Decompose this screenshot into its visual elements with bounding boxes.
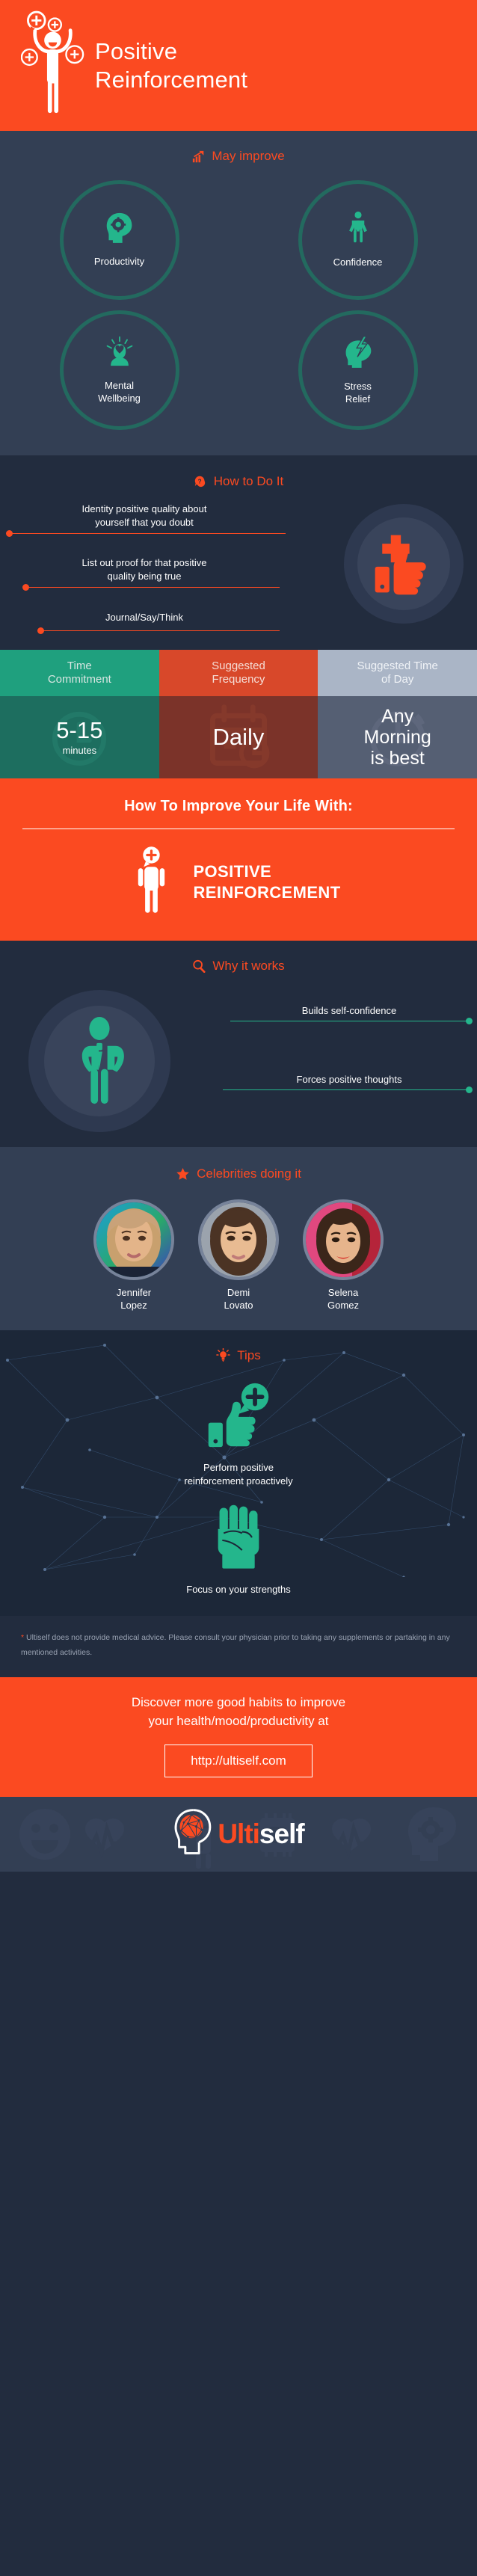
lightbulb-icon bbox=[216, 1348, 230, 1362]
table-cell-time-commitment: 5-15 minutes bbox=[0, 696, 159, 778]
person-with-heart-mind-icon bbox=[104, 336, 135, 371]
why-it-works-heading-text: Why it works bbox=[212, 959, 284, 974]
how-to-step-1: Identity positive quality about yourself… bbox=[6, 502, 283, 529]
may-improve-item-productivity: Productivity bbox=[60, 180, 179, 300]
banner-habit-name: POSITIVE REINFORCEMENT bbox=[193, 861, 340, 903]
why-it-works-item-1: Builds self-confidence bbox=[226, 1005, 473, 1016]
head-with-lightning-icon bbox=[342, 335, 374, 372]
celebrity-card: Selena Gomez bbox=[299, 1199, 387, 1312]
head-with-brain-network-icon bbox=[173, 1807, 212, 1860]
bar-chart-up-icon bbox=[192, 150, 205, 163]
magnifying-glass-icon bbox=[192, 959, 206, 973]
page-header: Positive Reinforcement bbox=[0, 0, 477, 131]
how-to-section: ? How to Do It Identity positive quality… bbox=[0, 455, 477, 650]
avatar bbox=[93, 1199, 174, 1280]
why-it-works-item-2: Forces positive thoughts bbox=[226, 1074, 473, 1085]
summary-table: TimeCommitment SuggestedFrequency Sugges… bbox=[0, 650, 477, 778]
infographic-page: Positive Reinforcement May improve bbox=[0, 0, 477, 1872]
celebrity-name: Selena Gomez bbox=[299, 1287, 387, 1312]
tips-section: Tips Perform positive reinforcement pr bbox=[0, 1330, 477, 1617]
table-header-suggested-frequency: SuggestedFrequency bbox=[159, 650, 318, 696]
how-to-step-2: List out proof for that positive quality… bbox=[6, 556, 283, 582]
tips-heading: Tips bbox=[0, 1348, 477, 1363]
may-improve-item-label: Productivity bbox=[94, 256, 144, 268]
brand-wordmark: Ultiself bbox=[218, 1819, 304, 1850]
table-cell-value: 5-15 bbox=[56, 719, 102, 743]
table-cell-subvalue: minutes bbox=[63, 745, 97, 756]
tip-item-2: Focus on your strengths bbox=[0, 1504, 477, 1596]
tip-text: Perform positive reinforcement proactive… bbox=[0, 1461, 477, 1488]
raised-fist-icon bbox=[214, 1564, 263, 1576]
how-to-heading-text: How to Do It bbox=[214, 474, 284, 489]
table-header-suggested-time-of-day: Suggested Timeof Day bbox=[318, 650, 477, 696]
may-improve-item-stress-relief: Stress Relief bbox=[298, 310, 418, 430]
footer-logo: Ultiself bbox=[173, 1807, 304, 1860]
title-banner: How To Improve Your Life With: POSITIVE … bbox=[0, 778, 477, 941]
confident-person-icon bbox=[28, 990, 170, 1132]
brand-self: self bbox=[259, 1819, 304, 1849]
avatar bbox=[303, 1199, 384, 1280]
why-connector-line bbox=[223, 1089, 470, 1090]
page-title: Positive Reinforcement bbox=[95, 37, 247, 94]
how-to-step-3: Journal/Say/Think bbox=[6, 611, 283, 624]
table-cell-value: Any Morning is best bbox=[364, 706, 431, 769]
star-icon bbox=[176, 1167, 190, 1181]
thumbs-up-plus-icon bbox=[204, 1442, 273, 1454]
table-cell-value: Daily bbox=[213, 725, 265, 750]
table-cell-suggested-frequency: Daily bbox=[159, 696, 318, 778]
person-with-plus-bubble-icon bbox=[136, 846, 176, 918]
person-celebrating-with-plus-bubbles-icon bbox=[21, 10, 84, 120]
may-improve-heading: May improve bbox=[0, 149, 477, 164]
celebrity-card: Demi Lovato bbox=[194, 1199, 283, 1312]
celebrities-section: Celebrities doing it bbox=[0, 1147, 477, 1330]
table-header-time-commitment: TimeCommitment bbox=[0, 650, 159, 696]
may-improve-item-confidence: Confidence bbox=[298, 180, 418, 300]
celebrity-name: Demi Lovato bbox=[194, 1287, 283, 1312]
tips-heading-text: Tips bbox=[237, 1348, 261, 1363]
cta-section: Discover more good habits to improve you… bbox=[0, 1677, 477, 1796]
footer: Ultiself bbox=[0, 1797, 477, 1872]
celebrities-row: Jennifer Lopez bbox=[0, 1199, 477, 1312]
may-improve-section: May improve Productivity bbox=[0, 131, 477, 455]
cta-url-button[interactable]: http://ultiself.com bbox=[164, 1745, 313, 1777]
celebrities-heading: Celebrities doing it bbox=[0, 1166, 477, 1181]
may-improve-item-label: Mental Wellbeing bbox=[98, 380, 141, 405]
svg-text:?: ? bbox=[197, 478, 201, 485]
why-it-works-section: Why it works Builds self-confidence bbox=[0, 941, 477, 1147]
confident-person-icon bbox=[346, 211, 370, 248]
tip-text: Focus on your strengths bbox=[0, 1583, 477, 1596]
step-connector-line bbox=[25, 587, 280, 588]
banner-divider bbox=[22, 829, 455, 829]
why-connector-line bbox=[230, 1021, 470, 1021]
may-improve-grid: Productivity Confidence bbox=[0, 180, 477, 430]
celebrity-card: Jennifer Lopez bbox=[90, 1199, 178, 1312]
step-connector-line bbox=[9, 533, 286, 534]
table-cell-suggested-time-of-day: Any Morning is best bbox=[318, 696, 477, 778]
thumbs-up-with-plus-icon bbox=[344, 504, 464, 624]
page-title-line2: Reinforcement bbox=[95, 66, 247, 94]
brand-ulti: Ulti bbox=[218, 1819, 259, 1849]
how-to-body: Identity positive quality about yourself… bbox=[0, 502, 477, 633]
tip-item-1: Perform positive reinforcement proactive… bbox=[0, 1380, 477, 1488]
step-connector-line bbox=[40, 630, 280, 631]
why-it-works-heading: Why it works bbox=[0, 959, 477, 974]
may-improve-item-label: Confidence bbox=[333, 256, 383, 268]
may-improve-item-label: Stress Relief bbox=[344, 381, 372, 405]
banner-row: POSITIVE REINFORCEMENT bbox=[0, 846, 477, 918]
celebrities-heading-text: Celebrities doing it bbox=[197, 1166, 301, 1181]
disclaimer: * Ultiself does not provide medical advi… bbox=[0, 1616, 477, 1677]
may-improve-item-mental-wellbeing: Mental Wellbeing bbox=[60, 310, 179, 430]
how-to-heading: ? How to Do It bbox=[0, 474, 477, 489]
avatar bbox=[198, 1199, 279, 1280]
disclaimer-text: Ultiself does not provide medical advice… bbox=[21, 1633, 450, 1657]
banner-heading: How To Improve Your Life With: bbox=[0, 798, 477, 815]
question-speech-bubble-icon: ? bbox=[194, 475, 207, 488]
cta-text: Discover more good habits to improve you… bbox=[0, 1694, 477, 1730]
head-with-gear-icon bbox=[105, 212, 135, 247]
page-title-line1: Positive bbox=[95, 37, 247, 66]
celebrity-name: Jennifer Lopez bbox=[90, 1287, 178, 1312]
why-it-works-body: Builds self-confidence Forces positive t… bbox=[0, 992, 477, 1134]
may-improve-heading-text: May improve bbox=[212, 149, 284, 164]
